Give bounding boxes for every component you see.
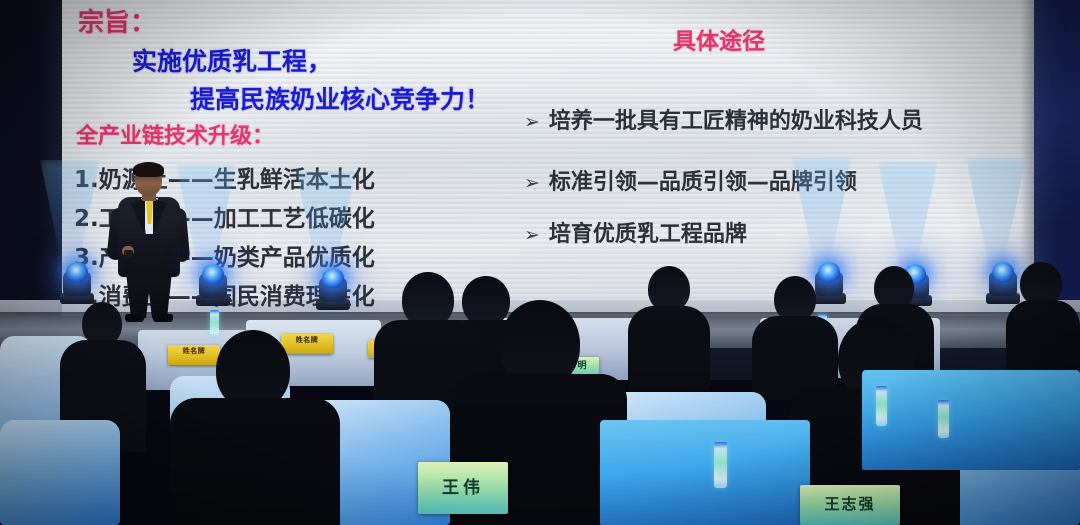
slide-right-item-1: ➢培养一批具有工匠精神的奶业科技人员 bbox=[524, 103, 923, 135]
slide-right-heading: 具体途径 bbox=[673, 22, 765, 56]
slide-left-line1: 实施优质乳工程， bbox=[132, 42, 332, 78]
speaker-right-shoe bbox=[153, 314, 173, 322]
person-shoulders bbox=[628, 306, 710, 390]
audience-person-front-1 bbox=[170, 330, 340, 525]
bullet-arrow-icon: ➢ bbox=[524, 172, 540, 194]
slide-left-heading: 宗旨： bbox=[78, 2, 156, 39]
bullet-arrow-icon: ➢ bbox=[524, 111, 540, 133]
slide-right-item-3-label: 培育优质乳工程品牌 bbox=[549, 222, 747, 247]
light-lens-icon bbox=[202, 264, 224, 284]
name-card-wang-wei-label: 王伟 bbox=[418, 462, 508, 515]
moving-head-light-3 bbox=[316, 268, 350, 310]
speaker-hair bbox=[133, 162, 164, 177]
moving-head-light-2 bbox=[196, 264, 230, 306]
name-card-wang-wei: 王伟 bbox=[418, 462, 508, 514]
moving-head-light-1 bbox=[60, 262, 94, 304]
slide-left-subheading: 全产业链技术升级： bbox=[76, 118, 274, 150]
name-card-right: 王志强 bbox=[800, 485, 900, 525]
slide-right-item-1-label: 培养一批具有工匠精神的奶业科技人员 bbox=[549, 109, 923, 134]
front-table-right bbox=[862, 370, 1080, 470]
bullet-arrow-icon: ➢ bbox=[524, 224, 540, 246]
water-bottle-6 bbox=[938, 400, 949, 438]
slide-right-item-3: ➢培育优质乳工程品牌 bbox=[524, 216, 747, 248]
water-bottle-4 bbox=[714, 442, 727, 488]
chair-front-4 bbox=[0, 420, 120, 525]
slide-left-line2: 提高民族奶业核心竞争力！ bbox=[190, 80, 490, 116]
water-bottle-5 bbox=[876, 386, 887, 426]
light-lens-icon bbox=[66, 262, 88, 282]
front-table-center bbox=[600, 420, 810, 525]
person-shoulders bbox=[170, 398, 340, 525]
audience-person-4 bbox=[628, 266, 710, 386]
presentation-clicker bbox=[124, 250, 133, 257]
light-lens-icon bbox=[322, 268, 344, 288]
photo-canvas: 宗旨： 实施优质乳工程， 提高民族奶业核心竞争力！ 全产业链技术升级： 1.奶源… bbox=[0, 0, 1080, 525]
name-card-right-label: 王志强 bbox=[800, 485, 900, 524]
